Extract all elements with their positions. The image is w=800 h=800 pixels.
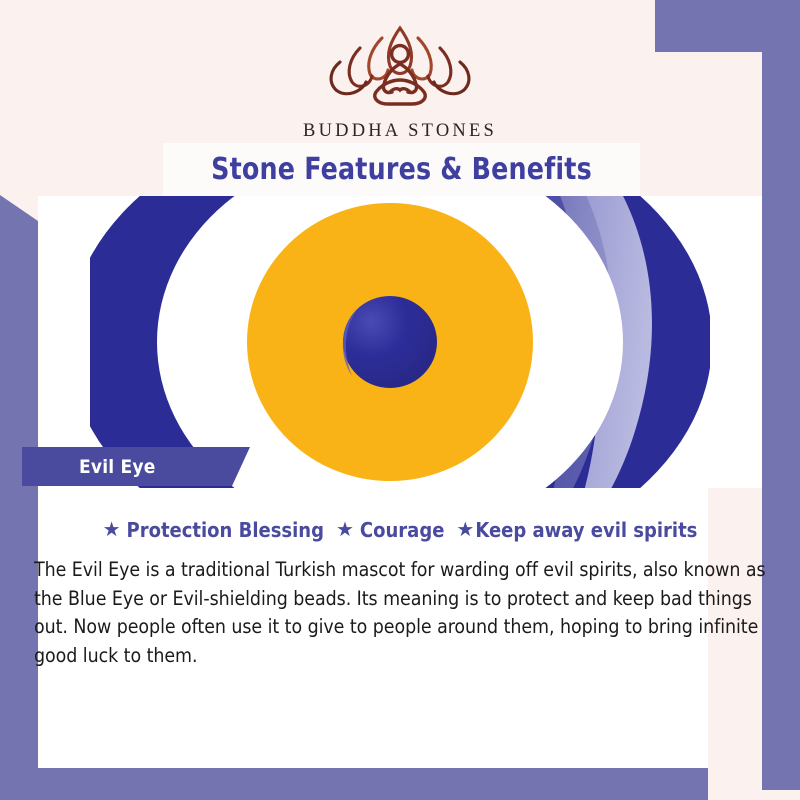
description-text: The Evil Eye is a traditional Turkish ma… <box>34 556 776 670</box>
feature-item-2: Courage <box>360 518 444 542</box>
lotus-meditation-icon <box>0 18 800 119</box>
star-icon: ★ <box>103 520 121 540</box>
page-title: Stone Features & Benefits <box>211 152 592 187</box>
feature-item-3: Keep away evil spirits <box>475 518 697 542</box>
feature-item-1: Protection Blessing <box>127 518 324 542</box>
features-row: ★ Protection Blessing ★ Courage ★ Keep a… <box>0 518 800 542</box>
evil-eye-bead-image <box>90 196 710 488</box>
infographic-card: BUDDHA STONES Stone Features & Benefits <box>0 0 800 800</box>
product-label: Evil Eye <box>79 456 156 478</box>
brand-logo: BUDDHA STONES <box>0 18 800 142</box>
star-icon: ★ <box>336 520 354 540</box>
section-title-banner: Stone Features & Benefits <box>163 143 640 196</box>
brand-name: BUDDHA STONES <box>0 121 800 142</box>
star-icon: ★ <box>456 520 474 540</box>
product-label-banner: Evil Eye <box>22 447 250 486</box>
